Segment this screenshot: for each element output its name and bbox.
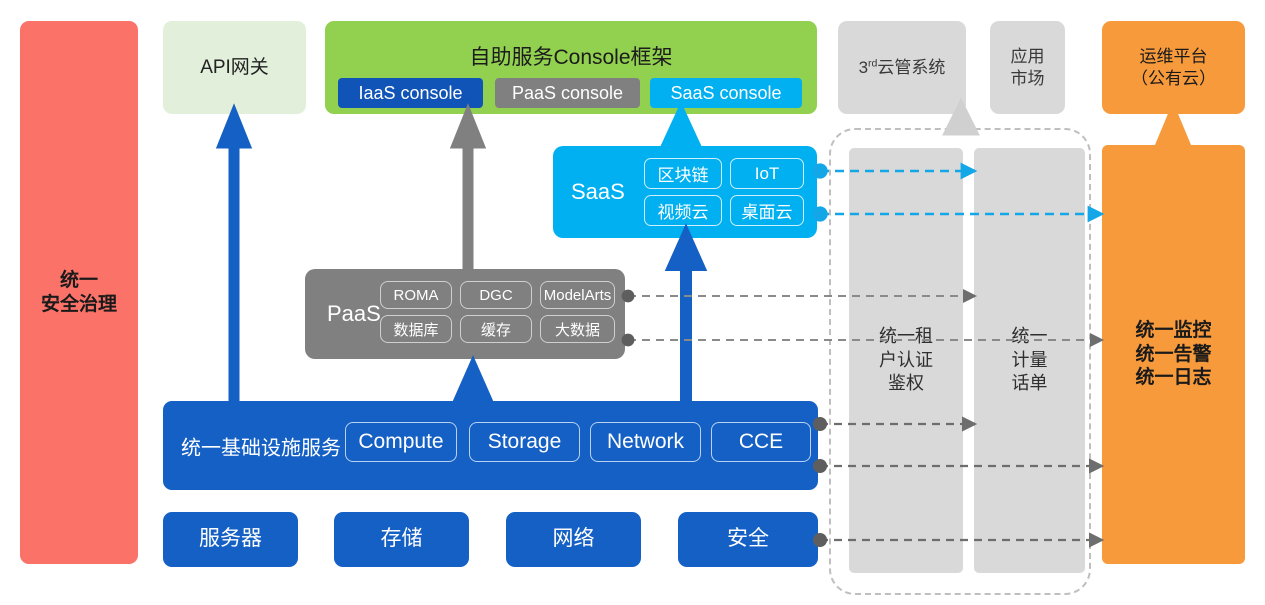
- ops-platform-top-label: 运维平台 （公有云）: [1131, 46, 1216, 89]
- saas-chip-iot-label: IoT: [755, 164, 780, 184]
- hardware-box-storage[interactable]: 存储: [334, 512, 469, 567]
- third-party-cloud-mgmt-box[interactable]: 3rd云管系统: [838, 21, 966, 114]
- saas-chip-blockchain-label: 区块链: [658, 161, 709, 186]
- arrow-saas-to-console: [669, 116, 693, 146]
- saas-chip-video-cloud[interactable]: 视频云: [644, 195, 722, 226]
- arrow-infra-to-api-gateway: [224, 118, 244, 401]
- third-party-prefix: 3: [859, 58, 868, 77]
- metering-line-2: 计量: [1012, 349, 1048, 372]
- paas-block: PaaS ROMA DGC ModelArts 数据库 缓存 大数据: [305, 269, 625, 359]
- arrow-paas-to-console: [458, 118, 478, 269]
- infra-chip-network-label: Network: [607, 430, 684, 454]
- unified-tenant-auth-column: 统一租 户认证 鉴权: [849, 148, 963, 573]
- hardware-storage-label: 存储: [381, 526, 423, 552]
- paas-chip-dgc-label: DGC: [479, 287, 512, 304]
- api-gateway-label: API网关: [200, 56, 269, 80]
- app-market-box[interactable]: 应用 市场: [990, 21, 1065, 114]
- saas-chip-iot[interactable]: IoT: [730, 158, 804, 189]
- paas-console-chip[interactable]: PaaS console: [495, 78, 640, 108]
- unified-monitoring-line: 统一监控: [1135, 319, 1211, 343]
- app-market-label: 应用 市场: [1011, 46, 1045, 89]
- security-line-2: 安全治理: [41, 293, 117, 317]
- third-party-cloud-mgmt-label: 3rd云管系统: [859, 57, 946, 78]
- app-market-line-2: 市场: [1011, 68, 1045, 89]
- metering-line-1: 统一: [1012, 325, 1048, 348]
- unified-tenant-auth-text: 统一租 户认证 鉴权: [879, 325, 933, 395]
- console-frame-title: 自助服务Console框架: [325, 41, 817, 71]
- paas-chip-dgc[interactable]: DGC: [460, 281, 532, 309]
- tenant-auth-line-2: 户认证: [879, 349, 933, 372]
- unified-log-line: 统一日志: [1135, 366, 1211, 390]
- hardware-box-network[interactable]: 网络: [506, 512, 641, 567]
- saas-console-chip[interactable]: SaaS console: [650, 78, 802, 108]
- ops-platform-line-1: 运维平台: [1131, 46, 1216, 67]
- paas-console-label: PaaS console: [512, 83, 623, 104]
- infra-chip-storage[interactable]: Storage: [469, 422, 580, 462]
- arrow-monitoring-to-ops-platform: [1163, 116, 1183, 145]
- hardware-box-security[interactable]: 安全: [678, 512, 818, 567]
- paas-chip-modelarts[interactable]: ModelArts: [540, 281, 615, 309]
- paas-chip-cache-label: 缓存: [481, 319, 511, 340]
- paas-chip-bigdata-label: 大数据: [555, 319, 600, 340]
- tenant-auth-line-1: 统一租: [879, 325, 933, 348]
- unified-monitoring-text: 统一监控 统一告警 统一日志: [1135, 319, 1211, 390]
- infra-chip-compute-label: Compute: [358, 430, 443, 454]
- tenant-auth-line-3: 鉴权: [879, 372, 933, 395]
- infra-chip-network[interactable]: Network: [590, 422, 701, 462]
- saas-chip-video-cloud-label: 视频云: [658, 198, 709, 223]
- saas-chip-blockchain[interactable]: 区块链: [644, 158, 722, 189]
- infra-chip-cce[interactable]: CCE: [711, 422, 811, 462]
- hardware-box-server[interactable]: 服务器: [163, 512, 298, 567]
- ops-platform-line-2: （公有云）: [1131, 68, 1216, 89]
- saas-chip-desktop-cloud-label: 桌面云: [742, 198, 793, 223]
- ops-platform-public-cloud-box[interactable]: 运维平台 （公有云）: [1102, 21, 1245, 114]
- paas-chip-roma[interactable]: ROMA: [380, 281, 452, 309]
- paas-chip-modelarts-label: ModelArts: [544, 287, 612, 304]
- paas-chip-cache[interactable]: 缓存: [460, 315, 532, 343]
- metering-line-3: 话单: [1012, 372, 1048, 395]
- infra-chip-compute[interactable]: Compute: [345, 422, 457, 462]
- hardware-security-label: 安全: [727, 526, 769, 552]
- paas-chip-database-label: 数据库: [393, 319, 438, 340]
- unified-security-governance-text: 统一 安全治理: [41, 269, 117, 317]
- unified-infrastructure-label: 统一基础设施服务: [181, 431, 341, 460]
- paas-block-label: PaaS: [327, 301, 381, 327]
- paas-chip-bigdata[interactable]: 大数据: [540, 315, 615, 343]
- iaas-console-label: IaaS console: [358, 83, 462, 104]
- security-line-1: 统一: [41, 269, 117, 293]
- saas-console-label: SaaS console: [670, 83, 781, 104]
- infra-chip-storage-label: Storage: [488, 430, 562, 454]
- unified-security-governance-panel: 统一 安全治理: [20, 21, 138, 564]
- architecture-diagram: 统一 安全治理 API网关 自助服务Console框架 IaaS console…: [0, 0, 1265, 605]
- unified-infrastructure-block: 统一基础设施服务 Compute Storage Network CCE: [163, 401, 818, 490]
- api-gateway-box[interactable]: API网关: [163, 21, 306, 114]
- paas-chip-roma-label: ROMA: [394, 287, 439, 304]
- saas-block: SaaS 区块链 IoT 视频云 桌面云: [553, 146, 817, 238]
- iaas-console-chip[interactable]: IaaS console: [338, 78, 483, 108]
- paas-chip-database[interactable]: 数据库: [380, 315, 452, 343]
- third-party-suffix: 云管系统: [877, 58, 945, 77]
- saas-chip-desktop-cloud[interactable]: 桌面云: [730, 195, 804, 226]
- hardware-server-label: 服务器: [199, 526, 262, 552]
- unified-metering-billing-column: 统一 计量 话单: [974, 148, 1085, 573]
- arrow-infra-to-saas: [674, 238, 698, 401]
- app-market-line-1: 应用: [1011, 46, 1045, 67]
- unified-metering-text: 统一 计量 话单: [1012, 325, 1048, 395]
- self-service-console-frame: 自助服务Console框架 IaaS console PaaS console …: [325, 21, 817, 114]
- saas-block-label: SaaS: [571, 179, 625, 205]
- arrow-infra-to-paas: [462, 370, 484, 401]
- unified-monitoring-panel: 统一监控 统一告警 统一日志: [1102, 145, 1245, 564]
- hardware-network-label: 网络: [553, 526, 595, 552]
- unified-alarm-line: 统一告警: [1135, 343, 1211, 367]
- infra-chip-cce-label: CCE: [739, 430, 783, 454]
